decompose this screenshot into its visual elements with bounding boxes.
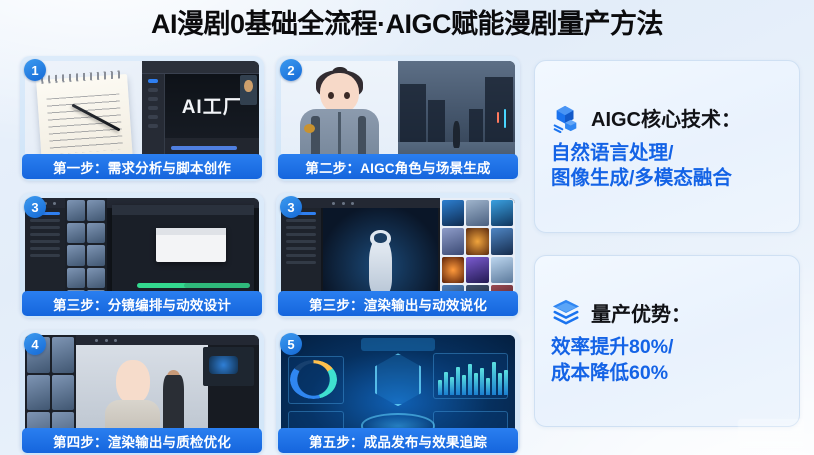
step-card-5[interactable]: 4 第四步：渲染输出与质检优化	[20, 330, 264, 455]
info-panel-title: AIGC核心技术：	[591, 103, 741, 132]
step-badge-5: 4	[24, 333, 46, 355]
step-badge-1: 1	[24, 59, 46, 81]
step-card-2[interactable]: 2 第二步：AIGC角色与场景生成	[276, 56, 520, 181]
cubes-icon	[551, 103, 581, 133]
step-caption-3: 第三步：分镜编排与动效设计	[22, 291, 262, 316]
info-panel-title: 量产优势：	[591, 298, 691, 327]
hologram-hexagon	[375, 353, 422, 406]
step-caption-4: 第三步：渲染输出与动效说化	[278, 291, 518, 316]
step-badge-6: 5	[280, 333, 302, 355]
step-badge-2: 2	[280, 59, 302, 81]
editor-canvas-text: AI工厂	[182, 92, 243, 119]
step-badge-3: 3	[24, 196, 46, 218]
watermark	[738, 419, 804, 449]
info-panel-aigc-core-tech: AIGC核心技术： 自然语言处理/ 图像生成/多模态融合	[534, 60, 800, 233]
info-panel-line-1: 自然语言处理/	[551, 141, 785, 167]
step-card-6[interactable]: 5 第五步：成品发布与效果追踪	[276, 330, 520, 455]
step-badge-4: 3	[280, 196, 302, 218]
info-panel-line-1: 效率提升80%/	[551, 335, 785, 361]
info-panel-line-2: 成本降低60%	[551, 361, 785, 387]
info-panel-mass-production-advantage: 量产优势： 效率提升80%/ 成本降低60%	[534, 255, 800, 428]
steps-grid: AI工厂 1 第一步：需求分析与脚本创作	[20, 56, 520, 455]
step-card-1[interactable]: AI工厂 1 第一步：需求分析与脚本创作	[20, 56, 264, 181]
step-card-4[interactable]: 3 第三步：渲染输出与动效说化	[276, 193, 520, 318]
step-card-3[interactable]: 3 第三步：分镜编排与动效设计	[20, 193, 264, 318]
info-panels: AIGC核心技术： 自然语言处理/ 图像生成/多模态融合 量产优势： 效率提升8…	[534, 56, 800, 455]
layers-icon	[551, 297, 581, 327]
page-title: AI漫剧0基础全流程·AIGC赋能漫剧量产方法	[0, 0, 814, 40]
content-stage: AI工厂 1 第一步：需求分析与脚本创作	[0, 56, 814, 455]
step-caption-6: 第五步：成品发布与效果追踪	[278, 428, 518, 453]
bar-chart	[438, 358, 508, 395]
step-caption-2: 第二步：AIGC角色与场景生成	[278, 154, 518, 179]
step-caption-1: 第一步：需求分析与脚本创作	[22, 154, 262, 179]
step-caption-5: 第四步：渲染输出与质检优化	[22, 428, 262, 453]
info-panel-line-2: 图像生成/多模态融合	[551, 166, 785, 192]
